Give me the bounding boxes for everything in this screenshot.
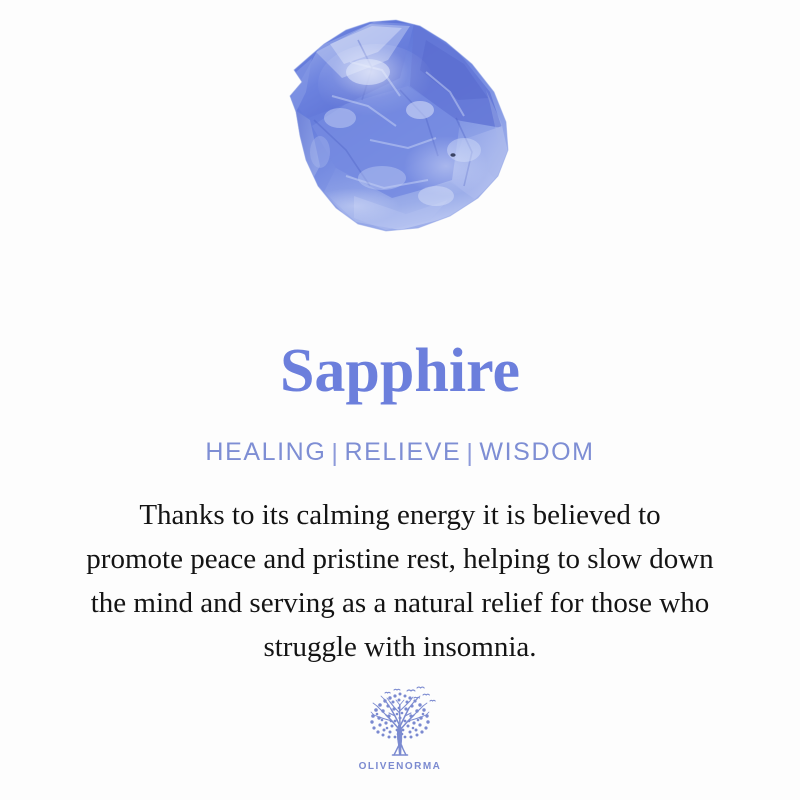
page-title: Sapphire [280, 340, 520, 402]
brand-logo: OLIVENORMA [359, 685, 442, 772]
gem-body [250, 0, 550, 250]
keyword-separator-2: | [461, 439, 479, 467]
tree-logo-icon [361, 685, 439, 759]
description-line: struggle with insomnia. [20, 625, 780, 669]
description-line: the mind and serving as a natural relief… [20, 581, 780, 625]
keyword-list: HEALING|RELIEVE|WISDOM [205, 438, 594, 467]
brand-wordmark: OLIVENORMA [359, 761, 442, 772]
gem-image-container [0, 0, 800, 312]
sapphire-info-card: Sapphire HEALING|RELIEVE|WISDOM Thanks t… [0, 0, 800, 800]
keyword-wisdom: WISDOM [479, 438, 594, 466]
sapphire-rough-crystal-icon [250, 0, 550, 250]
keyword-relieve: RELIEVE [345, 438, 462, 466]
description-line: promote peace and pristine rest, helping… [20, 537, 780, 581]
description-text: Thanks to its calming energy it is belie… [20, 493, 780, 669]
keyword-separator-1: | [326, 439, 344, 467]
description-line: Thanks to its calming energy it is belie… [20, 493, 780, 537]
keyword-healing: HEALING [205, 438, 326, 466]
